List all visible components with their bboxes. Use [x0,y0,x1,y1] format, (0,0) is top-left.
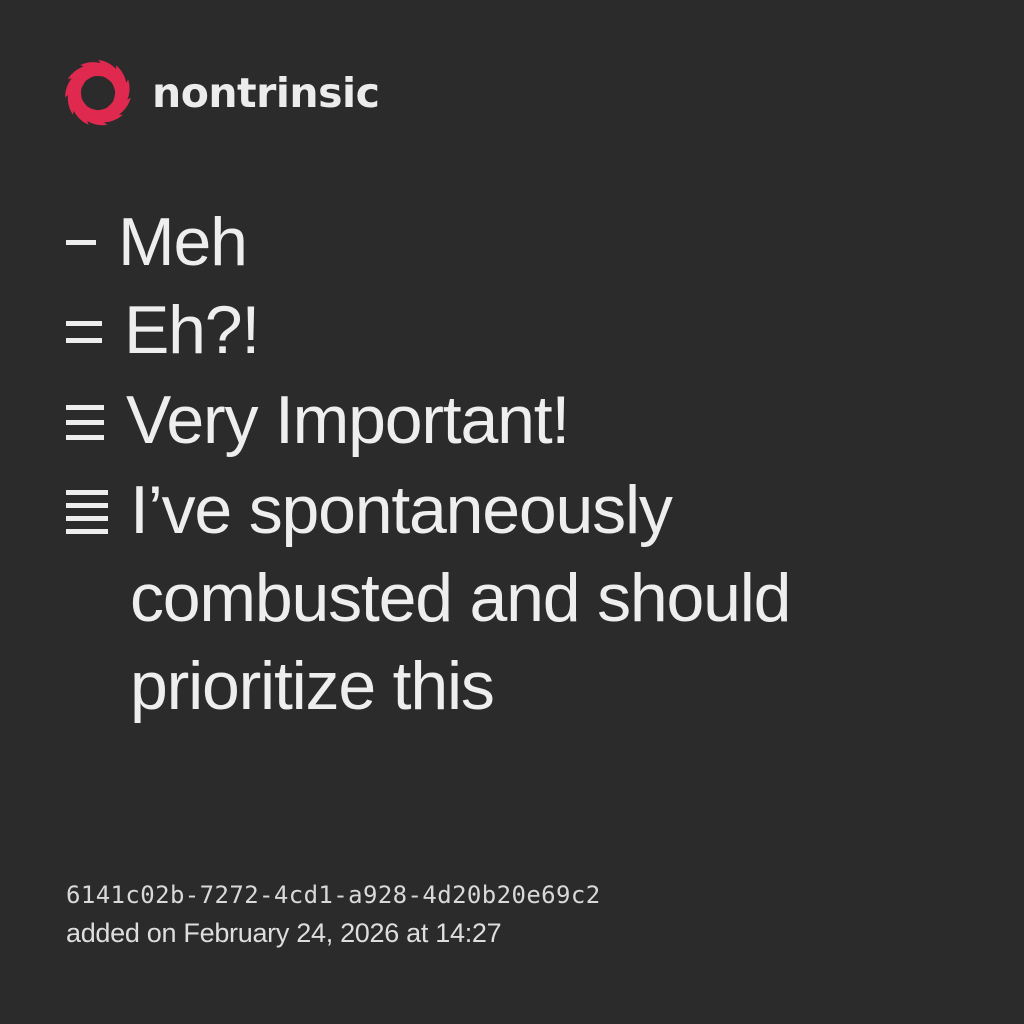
two-bar-icon [66,286,102,376]
one-bar-icon [66,198,96,286]
note-lines: Meh Eh?! Very Important! I [66,198,896,730]
note-line-text: I’ve spontaneously combusted and should … [130,466,896,730]
note-line-text: Meh [118,198,896,286]
brand-header: nontrinsic [62,57,379,129]
note-line: Meh [66,198,896,286]
note-line: I’ve spontaneously combusted and should … [66,466,896,730]
brand-wordmark: nontrinsic [152,73,379,114]
note-line: Very Important! [66,376,896,466]
note-meta: 6141c02b-7272-4cd1-a928-4d20b20e69c2 add… [66,878,601,954]
four-bar-icon [66,466,108,556]
spiral-pinwheel-icon [62,57,134,129]
note-added-timestamp: added on February 24, 2026 at 14:27 [66,912,601,954]
note-line-text: Eh?! [124,286,896,374]
note-line: Eh?! [66,286,896,376]
three-bar-icon [66,376,104,466]
note-line-text: Very Important! [126,376,896,464]
note-card: nontrinsic Meh Eh?! Very Important! [0,0,1024,1024]
note-id: 6141c02b-7272-4cd1-a928-4d20b20e69c2 [66,878,601,912]
